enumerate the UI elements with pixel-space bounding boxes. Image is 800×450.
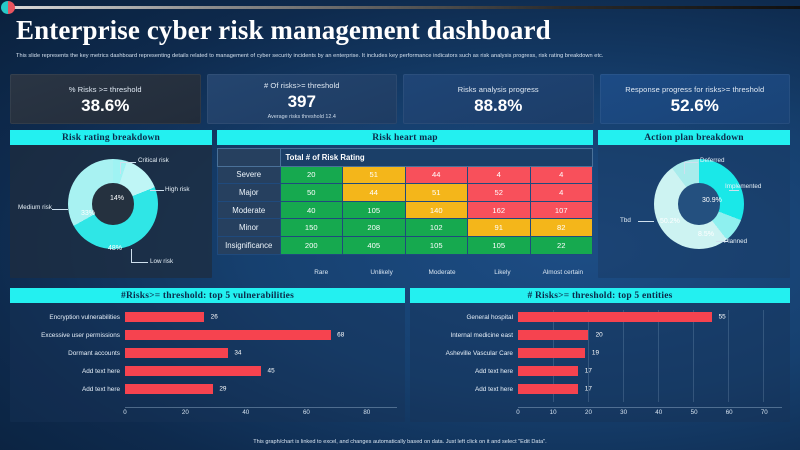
- panel-body: Total # of Risk Rating Severe 20 51 44 4…: [217, 145, 593, 278]
- panel-action-plan-breakdown: Action plan breakdown 30.9% 8.5% 50.2% D…: [598, 130, 790, 278]
- bar-label: Asheville Vascular Care: [410, 350, 518, 357]
- entities-bar-chart[interactable]: General hospital 55 Internal medicine ea…: [410, 303, 790, 422]
- panel-title: Action plan breakdown: [644, 133, 744, 143]
- slice-label-medium-risk: Medium risk: [18, 204, 54, 212]
- bar-track: 29: [125, 382, 397, 396]
- panel-top-vulnerabilities: #Risks>= threshold: top 5 vulnerabilitie…: [10, 288, 405, 422]
- slice-value-low-risk: 48%: [108, 245, 122, 252]
- bar-label: Add text here: [10, 368, 125, 375]
- slice-value-implemented: 30.9%: [702, 197, 722, 204]
- x-tick: 40: [655, 409, 662, 416]
- bar-rows: General hospital 55 Internal medicine ea…: [410, 310, 782, 396]
- x-tick: 30: [620, 409, 627, 416]
- x-axis-line: [518, 407, 782, 408]
- cell: 44: [405, 166, 468, 184]
- bar-row[interactable]: Dormant accounts 34: [10, 346, 397, 360]
- kpi-card-number-of-risks[interactable]: # Of risks>= threshold 397 Average risks…: [207, 74, 398, 124]
- leader-line-critical: [120, 162, 121, 174]
- middle-row: Risk rating breakdown 14% 33% 48% Critic…: [10, 130, 790, 278]
- row-header-major: Major: [218, 184, 281, 202]
- bar-row[interactable]: Add text here 29: [10, 382, 397, 396]
- bar-value: 29: [219, 386, 226, 393]
- leader-line-high: [150, 190, 164, 191]
- panel-risk-rating-breakdown: Risk rating breakdown 14% 33% 48% Critic…: [10, 130, 212, 278]
- bottom-row: #Risks>= threshold: top 5 vulnerabilitie…: [10, 288, 790, 422]
- bar-label: Add text here: [10, 386, 125, 393]
- bar-fill: [125, 366, 261, 376]
- bar-row[interactable]: Asheville Vascular Care 19: [410, 346, 782, 360]
- cell: 51: [405, 184, 468, 202]
- x-tick: 60: [726, 409, 733, 416]
- cell: 4: [530, 166, 593, 184]
- bar-row[interactable]: Add text here 17: [410, 364, 782, 378]
- bar-label: General hospital: [410, 314, 518, 321]
- kpi-value: 52.6%: [671, 95, 719, 116]
- cell: 105: [405, 236, 468, 254]
- bar-value: 17: [585, 386, 592, 393]
- cell: 20: [280, 166, 343, 184]
- bar-value: 17: [585, 368, 592, 375]
- cell: 162: [468, 201, 531, 219]
- panel-title: Risk rating breakdown: [62, 133, 160, 143]
- bar-label: Encryption vulnerabilities: [10, 314, 125, 321]
- slice-value-medium-risk: 33%: [81, 210, 95, 217]
- leader-line-critical-h: [120, 162, 136, 163]
- table-row[interactable]: Major 50 44 51 52 4: [218, 184, 593, 202]
- cell: 82: [530, 219, 593, 237]
- leader-line-deferred: [684, 162, 685, 174]
- cell: 150: [280, 219, 343, 237]
- bar-rows: Encryption vulnerabilities 26 Excessive …: [10, 310, 397, 396]
- risk-heat-map-table[interactable]: Total # of Risk Rating Severe 20 51 44 4…: [217, 148, 593, 255]
- kpi-label: Response progress for risks>= threshold: [625, 85, 764, 94]
- slice-value-tbd: 50.2%: [660, 218, 680, 225]
- top-decorative-rule: [12, 6, 800, 9]
- bar-row[interactable]: Encryption vulnerabilities 26: [10, 310, 397, 324]
- slice-label-tbd: Tbd: [620, 217, 631, 225]
- kpi-value: 88.8%: [474, 95, 522, 116]
- x-tick: 50: [691, 409, 698, 416]
- table-row[interactable]: Severe 20 51 44 4 4: [218, 166, 593, 184]
- bar-fill: [125, 384, 213, 394]
- panel-top-entities: # Risks>= threshold: top 5 entities Gene…: [410, 288, 790, 422]
- bar-value: 55: [719, 314, 726, 321]
- x-axis-line: [125, 407, 397, 408]
- vulnerabilities-bar-chart[interactable]: Encryption vulnerabilities 26 Excessive …: [10, 303, 405, 422]
- kpi-value: 38.6%: [81, 95, 129, 116]
- leader-line-medium: [52, 209, 68, 210]
- footer-note: This graph/chart is linked to excel, and…: [0, 439, 800, 445]
- x-tick: 60: [303, 409, 310, 416]
- bar-label: Add text here: [410, 368, 518, 375]
- slice-label-planned: Planned: [724, 238, 747, 246]
- bar-label: Dormant accounts: [10, 350, 125, 357]
- bar-track: 17: [518, 364, 782, 378]
- panel-header: Action plan breakdown: [598, 130, 790, 145]
- bar-value: 20: [596, 332, 603, 339]
- x-tick: 20: [182, 409, 189, 416]
- risk-rating-donut-chart[interactable]: 14% 33% 48% Critical risk High risk Medi…: [10, 145, 212, 278]
- table-corner-cell: [218, 149, 281, 167]
- x-tick-unlikely: Unlikely: [351, 269, 411, 276]
- cell: 107: [530, 201, 593, 219]
- bar-row[interactable]: Add text here 45: [10, 364, 397, 378]
- cell: 22: [530, 236, 593, 254]
- row-header-moderate: Moderate: [218, 201, 281, 219]
- panel-body: Encryption vulnerabilities 26 Excessive …: [10, 303, 405, 422]
- x-tick: 10: [550, 409, 557, 416]
- table-row[interactable]: Moderate 40 105 140 162 107: [218, 201, 593, 219]
- bar-value: 34: [234, 350, 241, 357]
- kpi-card-percent-risks[interactable]: % Risks >= threshold 38.6%: [10, 74, 201, 124]
- cell: 44: [343, 184, 406, 202]
- header: Enterprise cyber risk management dashboa…: [16, 16, 786, 60]
- kpi-label: # Of risks>= threshold: [264, 81, 340, 90]
- bar-fill: [125, 330, 331, 340]
- cell: 405: [343, 236, 406, 254]
- panel-body: General hospital 55 Internal medicine ea…: [410, 303, 790, 422]
- bar-value: 19: [592, 350, 599, 357]
- panel-title: Risk heart map: [372, 133, 438, 143]
- heatmap-x-axis-labels: Rare Unlikely Moderate Likely Almost cer…: [291, 269, 593, 276]
- bar-track: 34: [125, 346, 397, 360]
- donut-ring: [68, 159, 158, 249]
- bar-track: 68: [125, 328, 397, 342]
- cell: 51: [343, 166, 406, 184]
- row-header-minor: Minor: [218, 219, 281, 237]
- panel-body: 30.9% 8.5% 50.2% Deferred Implemented Pl…: [598, 145, 790, 278]
- x-axis-ticks: 0 20 40 60 80: [125, 409, 397, 420]
- slice-label-critical-risk: Critical risk: [138, 157, 169, 165]
- panel-header: Risk heart map: [217, 130, 593, 145]
- bar-row[interactable]: General hospital 55: [410, 310, 782, 324]
- panel-header: #Risks>= threshold: top 5 vulnerabilitie…: [10, 288, 405, 303]
- cell: 91: [468, 219, 531, 237]
- leader-line-deferred-h: [684, 162, 698, 163]
- panel-header: # Risks>= threshold: top 5 entities: [410, 288, 790, 303]
- kpi-value: 397: [288, 91, 316, 112]
- panel-risk-heart-map: Risk heart map Total # of Risk Rating Se…: [217, 130, 593, 278]
- cell: 208: [343, 219, 406, 237]
- cell: 4: [468, 166, 531, 184]
- slice-label-high-risk: High risk: [165, 186, 190, 194]
- bar-track: 45: [125, 364, 397, 378]
- bar-value: 45: [268, 368, 275, 375]
- bar-label: Add text here: [410, 386, 518, 393]
- slice-label-implemented: Implemented: [725, 183, 761, 191]
- x-tick: 70: [761, 409, 768, 416]
- leader-line-tbd: [638, 221, 654, 222]
- cell: 4: [530, 184, 593, 202]
- bar-track: 20: [518, 328, 782, 342]
- cell: 105: [343, 201, 406, 219]
- x-tick: 0: [516, 409, 519, 416]
- kpi-label: % Risks >= threshold: [69, 85, 142, 94]
- cell: 50: [280, 184, 343, 202]
- kpi-label: Risks analysis progress: [458, 85, 539, 94]
- bar-label: Internal medicine east: [410, 332, 518, 339]
- row-header-insignificance: Insignificance: [218, 236, 281, 254]
- bar-label: Excessive user permissions: [10, 332, 125, 339]
- cell: 52: [468, 184, 531, 202]
- panel-body: 14% 33% 48% Critical risk High risk Medi…: [10, 145, 212, 278]
- x-tick: 20: [585, 409, 592, 416]
- panel-title: #Risks>= threshold: top 5 vulnerabilitie…: [121, 291, 294, 301]
- page-subtitle: This slide represents the key metrics da…: [16, 53, 786, 60]
- panel-header: Risk rating breakdown: [10, 130, 212, 145]
- x-tick-rare: Rare: [291, 269, 351, 276]
- bar-value: 26: [211, 314, 218, 321]
- bar-track: 19: [518, 346, 782, 360]
- slice-label-deferred: Deferred: [700, 157, 725, 165]
- kpi-row: % Risks >= threshold 38.6% # Of risks>= …: [10, 74, 790, 124]
- cell: 140: [405, 201, 468, 219]
- table-title-cell: Total # of Risk Rating: [280, 149, 593, 167]
- kpi-subtext: Average risks threshold 12.4: [268, 114, 336, 120]
- bar-track: 26: [125, 310, 397, 324]
- bar-track: 17: [518, 382, 782, 396]
- slice-label-low-risk: Low risk: [150, 258, 173, 266]
- bar-fill: [518, 330, 588, 340]
- bar-row[interactable]: Add text here 17: [410, 382, 782, 396]
- leader-line-low: [131, 249, 132, 263]
- kpi-card-analysis-progress[interactable]: Risks analysis progress 88.8%: [403, 74, 594, 124]
- x-tick-likely: Likely: [472, 269, 532, 276]
- cell: 40: [280, 201, 343, 219]
- slice-value-high-risk: 14%: [110, 195, 124, 202]
- bar-value: 68: [337, 332, 344, 339]
- bar-fill: [518, 366, 578, 376]
- table-header-row: Total # of Risk Rating: [218, 149, 593, 167]
- table-row[interactable]: Minor 150 208 102 91 82: [218, 219, 593, 237]
- x-tick-almost-certain: Almost certain: [533, 269, 593, 276]
- bar-row[interactable]: Internal medicine east 20: [410, 328, 782, 342]
- x-tick-moderate: Moderate: [412, 269, 472, 276]
- cell: 105: [468, 236, 531, 254]
- bar-row[interactable]: Excessive user permissions 68: [10, 328, 397, 342]
- leader-line-low-h: [131, 262, 148, 263]
- row-header-severe: Severe: [218, 166, 281, 184]
- bar-fill: [125, 312, 204, 322]
- corner-dot-icon: [1, 1, 15, 14]
- bar-fill: [518, 312, 712, 322]
- bar-fill: [125, 348, 228, 358]
- action-plan-donut-chart[interactable]: 30.9% 8.5% 50.2% Deferred Implemented Pl…: [598, 145, 790, 278]
- panel-title: # Risks>= threshold: top 5 entities: [527, 291, 672, 301]
- slice-value-planned: 8.5%: [698, 231, 714, 238]
- table-row[interactable]: Insignificance 200 405 105 105 22: [218, 236, 593, 254]
- bar-fill: [518, 348, 585, 358]
- x-axis-ticks: 0 10 20 30 40 50 60 70: [518, 409, 782, 420]
- x-tick: 40: [242, 409, 249, 416]
- x-tick: 0: [123, 409, 126, 416]
- page-title: Enterprise cyber risk management dashboa…: [16, 16, 786, 44]
- cell: 200: [280, 236, 343, 254]
- cell: 102: [405, 219, 468, 237]
- bar-fill: [518, 384, 578, 394]
- bar-track: 55: [518, 310, 782, 324]
- kpi-card-response-progress[interactable]: Response progress for risks>= threshold …: [600, 74, 791, 124]
- x-tick: 80: [363, 409, 370, 416]
